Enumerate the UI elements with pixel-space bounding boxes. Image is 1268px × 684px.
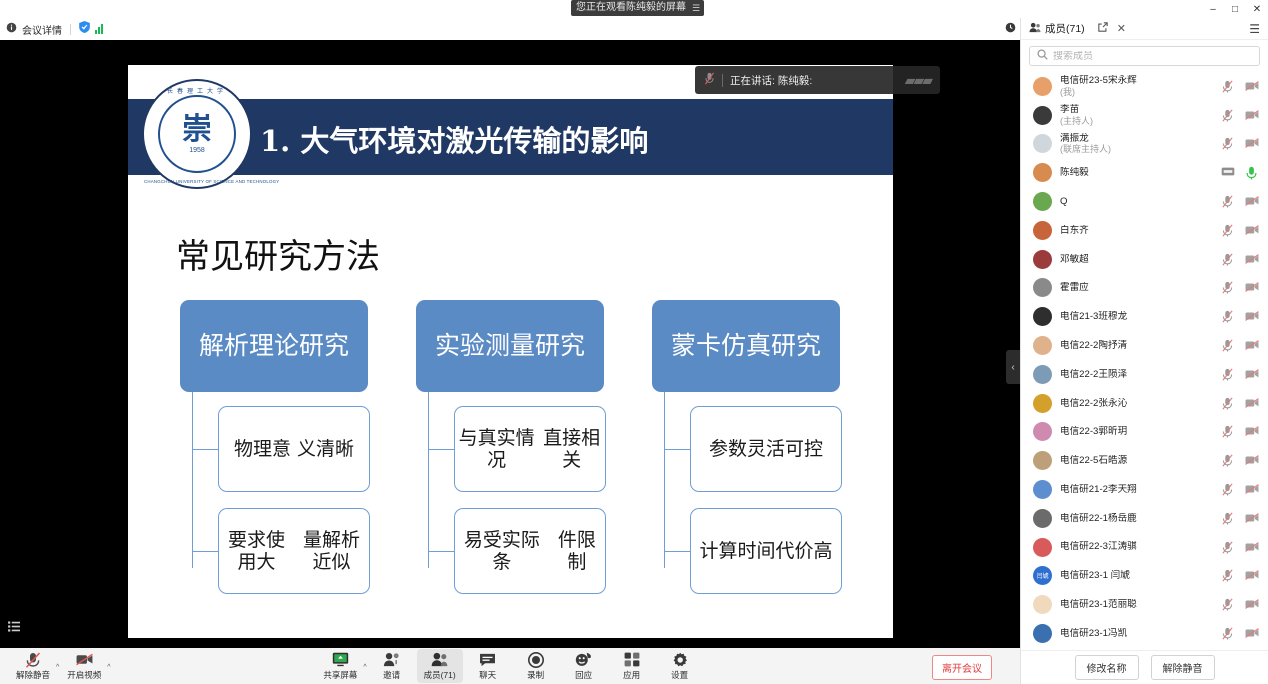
mic-off-icon <box>704 72 715 88</box>
camera-off-icon[interactable] <box>1245 512 1258 525</box>
participant-status-icons <box>1221 598 1258 611</box>
research-methods-diagram: 解析理论研究 物理意 义清晰 要求使用大量解析近似 实验测量研究 与真实情况直接… <box>176 300 876 630</box>
toolbar-button-label: 聊天 <box>479 669 496 681</box>
camera-off-icon[interactable] <box>1245 627 1258 640</box>
grip-icon[interactable]: ☰ <box>692 0 699 16</box>
diagram-head-box: 解析理论研究 <box>180 300 368 392</box>
participant-status-icons <box>1221 339 1258 352</box>
meeting-details-label: 会议详情 <box>22 22 62 37</box>
chat-icon <box>479 652 496 668</box>
connector-lines <box>192 392 218 568</box>
participant-name: 电信21-3班穆龙 <box>1060 311 1127 322</box>
slide-section-heading: 常见研究方法 <box>176 229 380 278</box>
mic-off-icon[interactable] <box>1221 627 1234 640</box>
mic-off-icon[interactable] <box>1221 137 1234 150</box>
avatar <box>1033 451 1052 470</box>
connector-lines <box>664 392 690 568</box>
toolbar-button-设置[interactable]: 设置 <box>657 649 703 683</box>
logo-inner: 崇 1958 <box>158 95 236 173</box>
waveform-icon: ▰▰▰ <box>905 72 931 89</box>
mic-off-icon[interactable] <box>1221 281 1234 294</box>
camera-off-icon[interactable] <box>1245 310 1258 323</box>
mic-off-icon[interactable] <box>1221 598 1234 611</box>
search-input[interactable] <box>1053 51 1252 62</box>
mic-off-icon[interactable] <box>1221 569 1234 582</box>
diagram-child-box: 物理意 义清晰 <box>218 406 370 492</box>
camera-off-icon[interactable] <box>1245 281 1258 294</box>
avatar <box>1033 192 1052 211</box>
participant-status-icons <box>1221 397 1258 410</box>
avatar <box>1033 365 1052 384</box>
record-icon <box>528 652 544 668</box>
unmute-button[interactable]: 解除静音 <box>1151 655 1215 680</box>
watching-screen-notice[interactable]: 您正在观看陈纯毅的屏幕 ☰ <box>571 0 704 16</box>
participant-name: 满振龙(联席主持人) <box>1060 133 1111 155</box>
rename-button[interactable]: 修改名称 <box>1075 655 1139 680</box>
diagram-head-box: 实验测量研究 <box>416 300 604 392</box>
participants-panel-footer: 修改名称 解除静音 <box>1021 650 1268 684</box>
camera-off-icon[interactable] <box>1245 224 1258 237</box>
participants-panel-title: 成员(71) <box>1045 21 1085 36</box>
chevron-up-icon[interactable]: ^ <box>363 664 366 671</box>
toolbar-button-label: 共享屏幕 <box>323 669 357 681</box>
participant-status-icons <box>1221 80 1258 93</box>
participant-row[interactable]: 电信研23-5宋永辉(我) <box>1021 72 1268 101</box>
watching-screen-text: 您正在观看陈纯毅的屏幕 <box>576 0 686 16</box>
camera-off-icon[interactable] <box>1245 454 1258 467</box>
divider <box>70 24 71 35</box>
connector-lines <box>428 392 454 568</box>
mic-off-icon[interactable] <box>1221 454 1234 467</box>
avatar <box>1033 509 1052 528</box>
participant-status-icons <box>1221 310 1258 323</box>
diagram-child-box: 要求使用大量解析近似 <box>218 508 370 594</box>
avatar <box>1033 307 1052 326</box>
diagram-head-box: 蒙卡仿真研究 <box>652 300 840 392</box>
participant-status-icons <box>1221 166 1258 179</box>
participant-name: 陈纯毅 <box>1060 167 1089 178</box>
participant-row[interactable]: 电信22-2陶抒清 <box>1021 331 1268 360</box>
toolbar-button-label: 设置 <box>671 669 688 681</box>
diagram-column-2: 蒙卡仿真研究 参数灵活可控 计算时间代价高 <box>652 300 848 610</box>
mic-off-icon[interactable] <box>1221 512 1234 525</box>
participant-row[interactable]: 电信研23-1冯凯 <box>1021 619 1268 648</box>
participants-panel-header: 成员(71) ✕ ☰ <box>1021 18 1268 40</box>
participant-row[interactable]: 满振龙(联席主持人) <box>1021 130 1268 159</box>
participant-row[interactable]: 电信研23-1范丽聪 <box>1021 590 1268 619</box>
participant-name: 电信研23-1冯凯 <box>1060 628 1127 639</box>
active-speaker-chip: 正在讲话: 陈纯毅: ▰▰▰ <box>695 66 940 94</box>
toolbar-button-共享屏幕[interactable]: 共享屏幕 <box>317 649 363 683</box>
list-icon[interactable] <box>6 618 22 634</box>
diagram-column-0: 解析理论研究 物理意 义清晰 要求使用大量解析近似 <box>180 300 376 610</box>
participant-status-icons <box>1221 368 1258 381</box>
avatar <box>1033 77 1052 96</box>
participant-status-icons <box>1221 627 1258 640</box>
mic-off-icon[interactable] <box>1221 109 1234 122</box>
participant-status-icons <box>1221 541 1258 554</box>
close-icon[interactable]: ✕ <box>1117 22 1126 35</box>
avatar <box>1033 106 1052 125</box>
participant-role: (主持人) <box>1060 116 1093 127</box>
meeting-info-group[interactable]: 会议详情 <box>0 20 103 38</box>
logo-year: 1958 <box>189 147 205 154</box>
mic-off-icon[interactable] <box>1221 80 1234 93</box>
share-screen-icon <box>332 652 349 668</box>
mic-off-icon[interactable] <box>1221 253 1234 266</box>
participant-status-icons <box>1221 425 1258 438</box>
avatar <box>1033 336 1052 355</box>
participant-status-icons <box>1221 137 1258 150</box>
participant-role: (我) <box>1060 87 1137 98</box>
participant-row[interactable]: 电信22-2张永沁 <box>1021 389 1268 418</box>
minimize-button[interactable]: – <box>1202 0 1224 18</box>
camera-off-icon[interactable] <box>1245 137 1258 150</box>
screen-share-icon[interactable] <box>1221 166 1234 179</box>
slide-header-band: 崇 1958 长春理工大学 CHANGCHUN UNIVERSITY OF SC… <box>128 103 893 175</box>
participant-name: 电信研23-1范丽聪 <box>1060 599 1137 610</box>
popout-icon[interactable] <box>1098 22 1108 35</box>
participant-row[interactable]: 电信21-3班穆龙 <box>1021 302 1268 331</box>
diagram-children: 物理意 义清晰 要求使用大量解析近似 <box>180 406 376 594</box>
participant-name: 电信22-2张永沁 <box>1060 398 1127 409</box>
participant-name: 电信研21-2李天翔 <box>1060 484 1137 495</box>
mic-off-icon[interactable] <box>1221 397 1234 410</box>
divider <box>722 74 723 87</box>
participant-status-icons <box>1221 109 1258 122</box>
shared-screen-stage: 正在讲话: 陈纯毅: ▰▰▰ ‹ 崇 1958 长春理工大学 CHANGCHU <box>0 40 1020 648</box>
clock-icon <box>1005 22 1016 36</box>
camera-off-icon[interactable] <box>1245 253 1258 266</box>
settings-icon <box>672 652 688 668</box>
participant-status-icons <box>1221 195 1258 208</box>
avatar <box>1033 250 1052 269</box>
toolbar-button-录制[interactable]: 录制 <box>513 649 559 683</box>
participant-name: 电信研22-1杨岳鹿 <box>1060 513 1137 524</box>
toolbar-button-label: 回应 <box>575 669 592 681</box>
toolbar-button-group: 共享屏幕^ <box>317 649 366 683</box>
participant-name: 电信研22-3江涛骐 <box>1060 541 1137 552</box>
participant-status-icons <box>1221 281 1258 294</box>
diagram-children: 与真实情况直接相关 易受实际条件限制 <box>416 406 612 594</box>
mic-on-icon[interactable] <box>1245 166 1258 179</box>
slide-title: 1. 大气环境对激光传输的影响 <box>260 118 648 160</box>
camera-off-icon[interactable] <box>1245 109 1258 122</box>
toolbar-button-label: 邀请 <box>383 669 400 681</box>
close-button[interactable]: ✕ <box>1246 0 1268 18</box>
toolbar-button-label: 录制 <box>527 669 544 681</box>
participants-search-row <box>1021 40 1268 70</box>
camera-off-icon[interactable] <box>1245 80 1258 93</box>
avatar <box>1033 278 1052 297</box>
participant-row[interactable]: 邓敏超 <box>1021 245 1268 274</box>
search-icon <box>1037 49 1048 63</box>
camera-off-icon[interactable] <box>1245 598 1258 611</box>
avatar <box>1033 480 1052 499</box>
mic-off-icon[interactable] <box>1221 425 1234 438</box>
participant-row[interactable]: 电信22-3郭昕玥 <box>1021 418 1268 447</box>
camera-off-icon[interactable] <box>1245 397 1258 410</box>
participant-status-icons <box>1221 454 1258 467</box>
toolbar-button-成员(71)[interactable]: 成员(71) <box>417 649 463 683</box>
avatar <box>1033 221 1052 240</box>
toolbar-button-应用[interactable]: 应用 <box>609 649 655 683</box>
logo-ring-top-text: 长春理工大学 <box>144 86 250 95</box>
shield-icon[interactable] <box>79 20 90 38</box>
mic-off-icon[interactable] <box>1221 483 1234 496</box>
participant-status-icons <box>1221 253 1258 266</box>
camera-off-icon[interactable] <box>1245 541 1258 554</box>
camera-off-icon[interactable] <box>1245 339 1258 352</box>
active-speaker-name: 正在讲话: 陈纯毅: <box>730 73 812 88</box>
hamburger-icon[interactable]: ☰ <box>1249 22 1260 36</box>
reaction-icon <box>575 652 592 668</box>
participant-name: 李苗(主持人) <box>1060 104 1093 126</box>
participants-panel: 成员(71) ✕ ☰ 电信研23-5宋永辉(我)李苗(主持人)满振龙(联席主持人… <box>1020 18 1268 684</box>
diagram-column-1: 实验测量研究 与真实情况直接相关 易受实际条件限制 <box>416 300 612 610</box>
avatar: 闫虓 <box>1033 566 1052 585</box>
participant-name: 电信22-2王陨泽 <box>1060 369 1127 380</box>
camera-off-icon[interactable] <box>1245 425 1258 438</box>
participant-row[interactable]: 电信研22-1杨岳鹿 <box>1021 504 1268 533</box>
camera-off-icon[interactable] <box>1245 483 1258 496</box>
participant-row[interactable]: 李苗(主持人) <box>1021 101 1268 130</box>
toolbar-button-回应[interactable]: 回应 <box>561 649 607 683</box>
mic-off-icon[interactable] <box>1221 224 1234 237</box>
toolbar-button-邀请[interactable]: 邀请 <box>369 649 415 683</box>
bottom-toolbar-center: 共享屏幕^邀请成员(71)聊天录制回应应用设置 <box>0 649 1020 683</box>
maximize-button[interactable]: □ <box>1224 0 1246 18</box>
participant-status-icons <box>1221 512 1258 525</box>
participant-status-icons <box>1221 483 1258 496</box>
diagram-child-box: 与真实情况直接相关 <box>454 406 606 492</box>
participant-name: 电信22-3郭昕玥 <box>1060 426 1127 437</box>
window-titlebar: 您正在观看陈纯毅的屏幕 ☰ – □ ✕ <box>0 0 1268 18</box>
diagram-child-box: 参数灵活可控 <box>690 406 842 492</box>
window-controls: – □ ✕ <box>1202 0 1268 18</box>
avatar <box>1033 134 1052 153</box>
logo-glyph: 崇 <box>182 115 212 145</box>
invite-icon <box>383 652 400 668</box>
participants-icon <box>1029 22 1041 36</box>
apps-icon <box>624 652 640 668</box>
participant-name: 电信22-2陶抒清 <box>1060 340 1127 351</box>
participants-icon <box>431 652 448 668</box>
mic-off-icon[interactable] <box>1221 339 1234 352</box>
leave-meeting-button[interactable]: 离开会议 <box>932 655 992 680</box>
meeting-window: 您正在观看陈纯毅的屏幕 ☰ – □ ✕ 会议详情 <box>0 0 1268 684</box>
mic-off-icon[interactable] <box>1221 310 1234 323</box>
participant-role: (联席主持人) <box>1060 144 1111 155</box>
participant-name: 电信研23-1 闫虓 <box>1060 570 1130 581</box>
participant-row[interactable]: 陈纯毅 <box>1021 158 1268 187</box>
participant-status-icons <box>1221 569 1258 582</box>
mic-off-icon[interactable] <box>1221 368 1234 381</box>
camera-off-icon[interactable] <box>1245 368 1258 381</box>
participant-status-icons <box>1221 224 1258 237</box>
participant-name: 霍雷应 <box>1060 282 1089 293</box>
diagram-child-box: 易受实际条件限制 <box>454 508 606 594</box>
meeting-bottom-toolbar: 解除静音^开启视频^ 共享屏幕^邀请成员(71)聊天录制回应应用设置 离开会议 <box>0 648 1020 684</box>
avatar <box>1033 538 1052 557</box>
participants-list[interactable]: 电信研23-5宋永辉(我)李苗(主持人)满振龙(联席主持人)陈纯毅Q白东齐邓敏超… <box>1021 70 1268 650</box>
participant-row[interactable]: 电信研22-3江涛骐 <box>1021 533 1268 562</box>
participant-row[interactable]: 电信22-2王陨泽 <box>1021 360 1268 389</box>
participant-row[interactable]: 闫虓电信研23-1 闫虓 <box>1021 562 1268 591</box>
avatar <box>1033 422 1052 441</box>
toolbar-button-聊天[interactable]: 聊天 <box>465 649 511 683</box>
diagram-child-box: 计算时间代价高 <box>690 508 842 594</box>
toolbar-button-label: 应用 <box>623 669 640 681</box>
camera-off-icon[interactable] <box>1245 195 1258 208</box>
participant-name: 电信研23-5宋永辉(我) <box>1060 75 1137 97</box>
info-icon <box>6 20 17 38</box>
participant-row[interactable]: Q <box>1021 187 1268 216</box>
participant-row[interactable]: 白东齐 <box>1021 216 1268 245</box>
mic-off-icon[interactable] <box>1221 195 1234 208</box>
avatar <box>1033 624 1052 643</box>
avatar <box>1033 595 1052 614</box>
participant-row[interactable]: 电信研21-2李天翔 <box>1021 475 1268 504</box>
participant-name: 电信22-5石皓源 <box>1060 455 1127 466</box>
participant-name: 白东齐 <box>1060 225 1089 236</box>
search-box[interactable] <box>1029 46 1260 66</box>
panel-collapse-handle[interactable]: ‹ <box>1006 350 1020 384</box>
diagram-children: 参数灵活可控 计算时间代价高 <box>652 406 848 594</box>
mic-off-icon[interactable] <box>1221 541 1234 554</box>
toolbar-button-label: 成员(71) <box>424 669 456 681</box>
participant-row[interactable]: 电信22-5石皓源 <box>1021 446 1268 475</box>
slide-body: 常见研究方法 解析理论研究 物理意 义清晰 要求使用大量解析近似 实验测量研究 <box>128 175 893 638</box>
signal-icon[interactable] <box>95 24 103 34</box>
avatar <box>1033 163 1052 182</box>
participant-name: 邓敏超 <box>1060 254 1089 265</box>
presentation-slide: 崇 1958 长春理工大学 CHANGCHUN UNIVERSITY OF SC… <box>128 65 893 638</box>
participants-panel-title-group: 成员(71) <box>1029 21 1085 36</box>
university-logo: 崇 1958 长春理工大学 CHANGCHUN UNIVERSITY OF SC… <box>142 79 252 189</box>
participant-row[interactable]: 霍雷应 <box>1021 274 1268 303</box>
avatar <box>1033 394 1052 413</box>
participant-name: Q <box>1060 196 1067 207</box>
camera-off-icon[interactable] <box>1245 569 1258 582</box>
